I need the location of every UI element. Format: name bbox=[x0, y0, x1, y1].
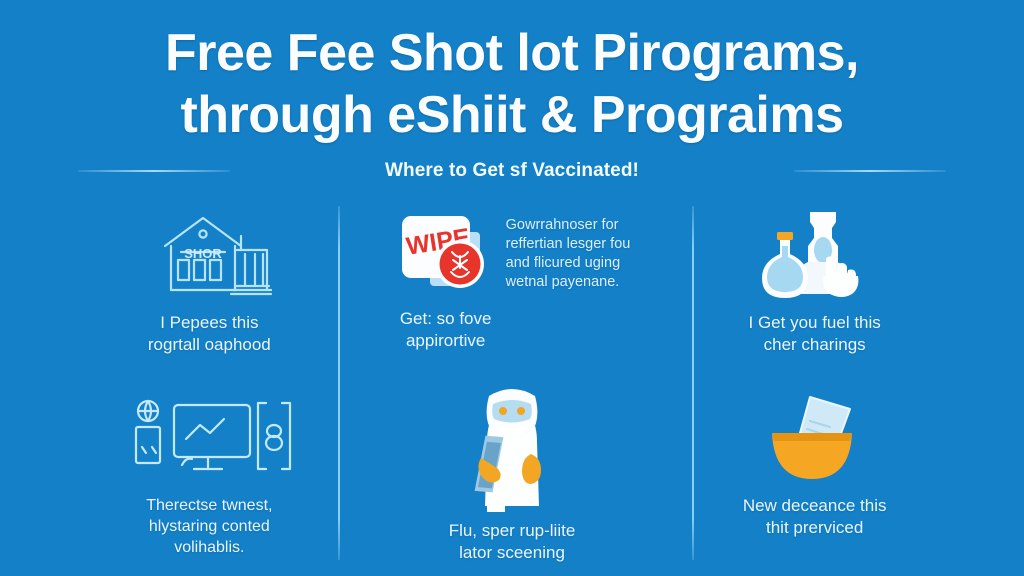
wipe-caption-line-2: appirortive bbox=[400, 330, 492, 352]
wipe-caption-line-1: Get: so fove bbox=[400, 308, 492, 330]
column-left: SHOR I Pepees this rogrtall oaphood bbox=[58, 198, 361, 564]
bowl-with-card-icon bbox=[752, 387, 878, 487]
school-caption-line-1: I Pepees this bbox=[148, 312, 271, 334]
divider-right bbox=[794, 170, 946, 172]
title-line-1: Free Fee Shot lot Pirograms, bbox=[70, 22, 954, 84]
ppe-caption: Flu, sper rup-liite lator sceening bbox=[449, 520, 576, 564]
wipe-card-icon: WIPE bbox=[394, 204, 498, 304]
sanitizer-caption-line-2: cher charings bbox=[749, 334, 881, 356]
sanitizer-caption-line-1: I Get you fuel this bbox=[749, 312, 881, 334]
subtitle-text: Where to Get sf Vaccinated! bbox=[230, 160, 794, 182]
sanitizer-bottles-hand-icon bbox=[752, 204, 878, 304]
cell-bowl[interactable]: New deceance this thit prerviced bbox=[663, 381, 966, 564]
wipe-body-line-4: wetnal payenane. bbox=[506, 273, 631, 292]
wipe-body-line-2: reffertian lesger fou bbox=[506, 235, 631, 254]
monitor-caption-line-3: volihablis. bbox=[146, 537, 272, 558]
title-line-2: through eShiit & Prograims bbox=[70, 84, 954, 146]
page-title: Free Fee Shot lot Pirograms, through eSh… bbox=[0, 0, 1024, 146]
column-center: WIPE Get: bbox=[361, 198, 664, 564]
vertical-divider-right bbox=[692, 206, 694, 560]
school-icon-label: SHOR bbox=[185, 246, 223, 261]
ppe-caption-line-2: lator sceening bbox=[449, 542, 576, 564]
divider-left bbox=[78, 170, 230, 172]
sanitizer-caption: I Get you fuel this cher charings bbox=[749, 312, 881, 356]
bowl-caption-line-2: thit prerviced bbox=[743, 517, 887, 539]
wipe-body-line-3: and flicured uging bbox=[506, 254, 631, 273]
cell-ppe-worker[interactable]: Flu, sper rup-liite lator sceening bbox=[361, 374, 664, 564]
cell-monitor[interactable]: Therectse twnest, hlystaring conted voli… bbox=[58, 381, 361, 564]
bowl-caption: New deceance this thit prerviced bbox=[743, 495, 887, 539]
monitor-caption: Therectse twnest, hlystaring conted voli… bbox=[146, 495, 272, 558]
subtitle-row: Where to Get sf Vaccinated! bbox=[0, 160, 1024, 182]
wipe-body-line-1: Gowrrahnoser for bbox=[506, 216, 631, 235]
school-caption: I Pepees this rogrtall oaphood bbox=[148, 312, 271, 356]
poster-root: Free Fee Shot lot Pirograms, through eSh… bbox=[0, 0, 1024, 576]
wipe-card-block: WIPE Get: bbox=[394, 204, 498, 352]
school-caption-line-2: rogrtall oaphood bbox=[148, 334, 271, 356]
ppe-worker-icon bbox=[453, 380, 571, 512]
cell-school[interactable]: SHOR I Pepees this rogrtall oaphood bbox=[58, 198, 361, 381]
monitor-caption-line-1: Therectse twnest, bbox=[146, 495, 272, 516]
content-grid: SHOR I Pepees this rogrtall oaphood bbox=[0, 198, 1024, 576]
column-right: I Get you fuel this cher charings New de… bbox=[663, 198, 966, 564]
ppe-caption-line-1: Flu, sper rup-liite bbox=[449, 520, 576, 542]
bowl-caption-line-1: New deceance this bbox=[743, 495, 887, 517]
wipe-body-text: Gowrrahnoser for reffertian lesger fou a… bbox=[506, 204, 631, 292]
vertical-divider-left bbox=[338, 206, 340, 560]
monitor-caption-line-2: hlystaring conted bbox=[146, 516, 272, 537]
cell-sanitizer[interactable]: I Get you fuel this cher charings bbox=[663, 198, 966, 381]
monitor-chart-icon bbox=[124, 387, 294, 487]
cell-wipe-card[interactable]: WIPE Get: bbox=[361, 198, 664, 374]
wipe-caption: Get: so fove appirortive bbox=[400, 308, 492, 352]
school-building-icon: SHOR bbox=[145, 204, 273, 304]
